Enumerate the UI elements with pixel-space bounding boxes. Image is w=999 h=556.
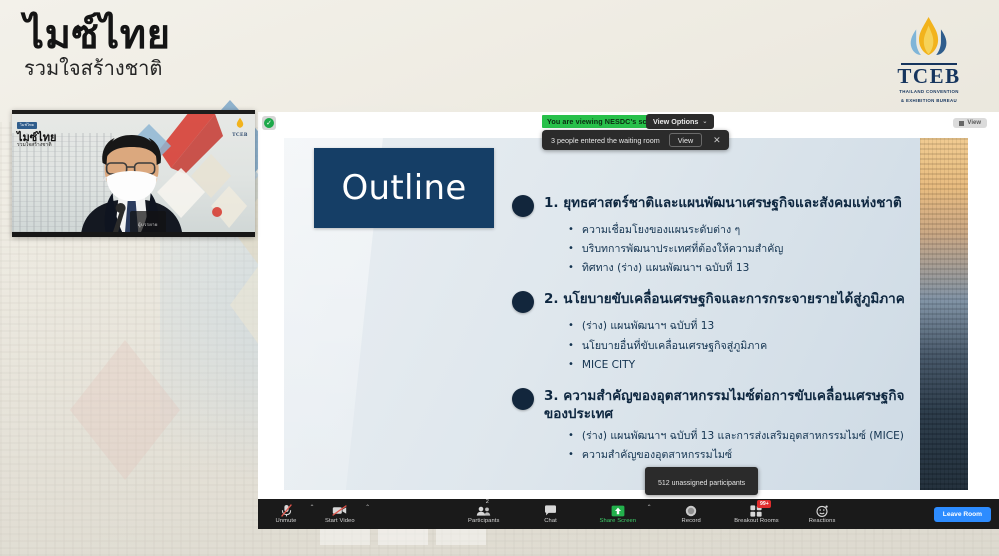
agenda-sub-text: ความสำคัญของอุตสาหกรรมไมซ์ xyxy=(582,447,732,464)
agenda-sub-list: •(ร่าง) แผนพัฒนาฯ ฉบับที่ 13 •นโยบายอื่น… xyxy=(568,318,912,373)
participants-button[interactable]: 2 Participants xyxy=(461,500,507,528)
view-options-label: View Options xyxy=(653,117,698,126)
tceb-abbr: TCEB xyxy=(885,66,973,87)
shield-check-icon: ✓ xyxy=(264,118,274,128)
agenda-section-header: 1. ยุทธศาสตร์ชาติและแผนพัฒนาเศรษฐกิจและส… xyxy=(512,194,912,217)
agenda-sub-item: •(ร่าง) แผนพัฒนาฯ ฉบับที่ 13 xyxy=(568,318,912,335)
brand-logo: ไมซ์ไทย รวมใจสร้างชาติ xyxy=(24,14,171,80)
sub-bullet-icon: • xyxy=(568,241,574,257)
agenda-sub-text: ความเชื่อมโยงของแผนระดับต่าง ๆ xyxy=(582,222,740,239)
unassigned-participants-tooltip: 512 unassigned participants xyxy=(645,467,758,495)
agenda-section-title: 1. ยุทธศาสตร์ชาติและแผนพัฒนาเศรษฐกิจและส… xyxy=(544,194,912,212)
presenter-tile-top-lip xyxy=(12,110,255,114)
close-icon[interactable]: ✕ xyxy=(711,135,723,146)
slide-title-box: Outline xyxy=(314,148,494,228)
page-root: ไมซ์ไทย รวมใจสร้างชาติ TCEB THAILAND CON… xyxy=(0,0,999,556)
flame-icon xyxy=(900,16,957,56)
agenda-bullet-dot-icon xyxy=(512,291,534,313)
record-label: Record xyxy=(682,518,701,524)
breakout-rooms-badge: 99+ xyxy=(757,500,771,508)
audio-options-caret[interactable]: ⌃ xyxy=(306,500,318,528)
sub-bullet-icon: • xyxy=(568,357,574,373)
agenda-section-heading: ยุทธศาสตร์ชาติและแผนพัฒนาเศรษฐกิจและสังค… xyxy=(563,195,902,211)
agenda-sub-text: นโยบายอื่นที่ขับเคลื่อนเศรษฐกิจสู่ภูมิภา… xyxy=(582,338,767,355)
agenda-sub-item: •ความเชื่อมโยงของแผนระดับต่าง ๆ xyxy=(568,222,912,239)
presenter-name-label: ผู้บรรยาย xyxy=(130,211,166,233)
slide-title: Outline xyxy=(341,168,466,208)
chat-button[interactable]: Chat xyxy=(531,500,571,528)
agenda-section: 3. ความสำคัญของอุตสาหกรรมไมซ์ต่อการขับเค… xyxy=(512,387,912,464)
unassigned-participants-text: 512 unassigned participants xyxy=(658,480,745,487)
share-screen-icon xyxy=(611,504,625,517)
reactions-label: Reactions xyxy=(809,518,836,524)
waiting-room-message: 3 people entered the waiting room xyxy=(551,136,660,145)
video-options-caret[interactable]: ⌃ xyxy=(362,500,374,528)
agenda-sub-text: (ร่าง) แผนพัฒนาฯ ฉบับที่ 13 และการส่งเสร… xyxy=(582,428,904,445)
tceb-tagline-1: THAILAND CONVENTION xyxy=(885,89,973,96)
agenda-section: 2. นโยบายขับเคลื่อนเศรษฐกิจและการกระจายร… xyxy=(512,290,912,373)
record-circle-icon xyxy=(685,504,697,517)
chat-label: Chat xyxy=(544,518,557,524)
smiley-reaction-icon xyxy=(816,504,828,517)
start-video-label: Start Video xyxy=(325,518,355,524)
agenda-sub-text: บริบทการพัฒนาประเทศที่ต้องให้ความสำคัญ xyxy=(582,241,783,258)
zoom-meeting-window: Outline 1. ยุทธศาสตร์ชาติและแผนพัฒนาเศรษ… xyxy=(258,112,999,529)
brand-subtitle: รวมใจสร้างชาติ xyxy=(24,57,171,80)
start-video-button[interactable]: Start Video xyxy=(318,500,362,528)
agenda-section-title: 3. ความสำคัญของอุตสาหกรรมไมซ์ต่อการขับเค… xyxy=(544,387,912,423)
agenda-section-number: 2. xyxy=(544,291,559,307)
presenter-name-text: ผู้บรรยาย xyxy=(138,222,158,227)
tceb-tagline-2: & EXHIBITION BUREAU xyxy=(885,98,973,105)
breakout-rooms-label: Breakout Rooms xyxy=(734,518,779,524)
agenda-section-heading: ความสำคัญของอุตสาหกรรมไมซ์ต่อการขับเคลื่… xyxy=(544,388,904,422)
participants-label: Participants xyxy=(468,518,500,524)
people-icon xyxy=(476,504,491,517)
unmute-button[interactable]: Unmute xyxy=(266,500,306,528)
breakout-rooms-button[interactable]: 99+ Breakout Rooms xyxy=(727,500,786,528)
zoom-toolbar: Unmute ⌃ Start Video ⌃ xyxy=(258,499,999,529)
view-toggle-button[interactable]: View xyxy=(953,118,987,128)
sub-bullet-icon: • xyxy=(568,222,574,238)
view-grid-icon xyxy=(959,121,964,126)
agenda-sub-text: MICE CITY xyxy=(582,357,635,374)
agenda-sub-item: •ความสำคัญของอุตสาหกรรมไมซ์ xyxy=(568,447,912,464)
agenda-sub-list: •ความเชื่อมโยงของแผนระดับต่าง ๆ •บริบทกา… xyxy=(568,222,912,277)
presenter-tceb-logo: TCEB xyxy=(232,115,248,138)
agenda-sub-item: •บริบทการพัฒนาประเทศที่ต้องให้ความสำคัญ xyxy=(568,241,912,258)
agenda-bullet-dot-icon xyxy=(512,195,534,217)
share-screen-button[interactable]: Share Screen xyxy=(593,500,644,528)
presenter-video-tile[interactable]: ไมซ์ไทย ไมซ์ไทย รวมใจสร้างชาติ TCEB ผู้บ… xyxy=(12,110,255,237)
shared-screen-area: Outline 1. ยุทธศาสตร์ชาติและแผนพัฒนาเศรษ… xyxy=(258,112,999,499)
waiting-room-view-button[interactable]: View xyxy=(669,133,702,147)
agenda-section-number: 3. xyxy=(544,388,559,404)
waiting-room-notification: 3 people entered the waiting room View ✕ xyxy=(542,130,729,150)
agenda-section-header: 2. นโยบายขับเคลื่อนเศรษฐกิจและการกระจายร… xyxy=(512,290,912,313)
screen-share-security-icon[interactable]: ✓ xyxy=(262,116,276,130)
view-options-button[interactable]: View Options ⌄ xyxy=(646,114,714,129)
agenda-section-header: 3. ความสำคัญของอุตสาหกรรมไมซ์ต่อการขับเค… xyxy=(512,387,912,423)
agenda-section: 1. ยุทธศาสตร์ชาติและแผนพัฒนาเศรษฐกิจและส… xyxy=(512,194,912,277)
reactions-button[interactable]: Reactions xyxy=(802,500,843,528)
sub-bullet-icon: • xyxy=(568,318,574,334)
share-screen-label: Share Screen xyxy=(600,518,637,524)
agenda-sub-item: •MICE CITY xyxy=(568,357,912,374)
sub-bullet-icon: • xyxy=(568,260,574,276)
agenda-sub-text: ทิศทาง (ร่าง) แผนพัฒนาฯ ฉบับที่ 13 xyxy=(582,260,749,277)
unmute-label: Unmute xyxy=(276,518,297,524)
chevron-down-icon: ⌄ xyxy=(702,118,707,125)
thai-ornament-petal-rose xyxy=(60,330,190,510)
presentation-slide: Outline 1. ยุทธศาสตร์ชาติและแผนพัฒนาเศรษ… xyxy=(284,138,968,490)
toolbar-center-group: 2 Participants xyxy=(461,500,842,528)
sub-bullet-icon: • xyxy=(568,447,574,463)
agenda-section-heading: นโยบายขับเคลื่อนเศรษฐกิจและการกระจายรายไ… xyxy=(563,291,905,307)
view-toggle-label: View xyxy=(967,120,981,126)
agenda-sub-item: •นโยบายอื่นที่ขับเคลื่อนเศรษฐกิจสู่ภูมิภ… xyxy=(568,338,912,355)
flame-icon-small xyxy=(232,117,248,128)
presenter-brand-chip: ไมซ์ไทย xyxy=(17,122,37,129)
agenda-sub-text: (ร่าง) แผนพัฒนาฯ ฉบับที่ 13 xyxy=(582,318,714,335)
agenda-list: 1. ยุทธศาสตร์ชาติและแผนพัฒนาเศรษฐกิจและส… xyxy=(512,194,912,477)
agenda-section-title: 2. นโยบายขับเคลื่อนเศรษฐกิจและการกระจายร… xyxy=(544,290,912,308)
leave-room-button[interactable]: Leave Room xyxy=(934,507,991,522)
sub-bullet-icon: • xyxy=(568,338,574,354)
microphone-muted-icon xyxy=(281,504,292,517)
sub-bullet-icon: • xyxy=(568,428,574,444)
record-button[interactable]: Record xyxy=(671,500,711,528)
share-options-caret[interactable]: ⌃ xyxy=(643,500,655,528)
agenda-sub-item: •(ร่าง) แผนพัฒนาฯ ฉบับที่ 13 และการส่งเส… xyxy=(568,428,912,445)
slide-right-photo-strip xyxy=(920,138,968,490)
presenter-brand-overlay: ไมซ์ไทย ไมซ์ไทย รวมใจสร้างชาติ xyxy=(17,113,56,148)
agenda-bullet-dot-icon xyxy=(512,388,534,410)
agenda-sub-item: •ทิศทาง (ร่าง) แผนพัฒนาฯ ฉบับที่ 13 xyxy=(568,260,912,277)
presenter-brand-subtitle: รวมใจสร้างชาติ xyxy=(17,143,56,148)
presenter-tceb-abbr: TCEB xyxy=(232,133,248,138)
speech-bubble-icon xyxy=(544,504,557,517)
agenda-section-number: 1. xyxy=(544,195,559,211)
toolbar-left-group: Unmute ⌃ Start Video ⌃ xyxy=(266,500,374,528)
viewing-screen-text: You are viewing NESDC's screen xyxy=(547,117,662,126)
presenter-tile-bottom-strip xyxy=(12,232,255,237)
participants-count-badge: 2 xyxy=(486,499,489,505)
brand-title: ไมซ์ไทย xyxy=(24,14,171,56)
agenda-sub-list: •(ร่าง) แผนพัฒนาฯ ฉบับที่ 13 และการส่งเส… xyxy=(568,428,912,464)
video-camera-muted-icon xyxy=(332,504,347,517)
tceb-logo: TCEB THAILAND CONVENTION & EXHIBITION BU… xyxy=(885,16,973,104)
